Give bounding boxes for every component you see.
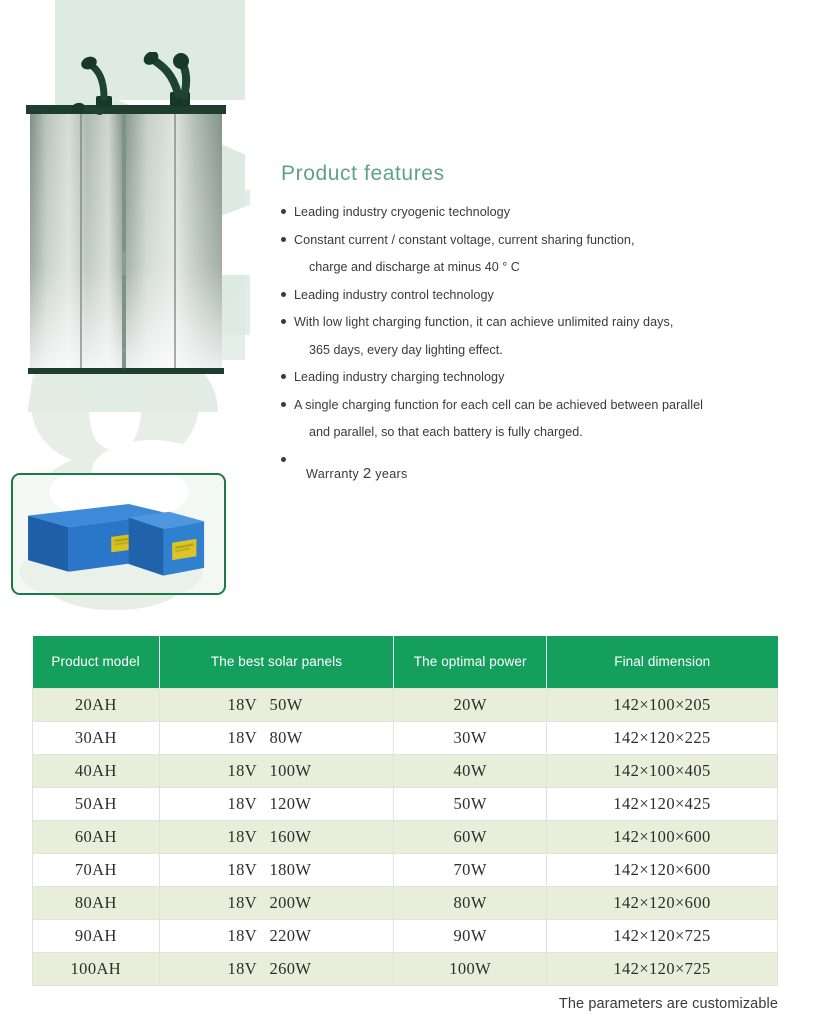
battery-pack-illustration [18,52,248,397]
feature-item: Constant current / constant voltage, cur… [281,227,781,255]
cell-dimension: 142×100×405 [547,754,778,787]
feature-item-warranty: Warranty 2 years [281,457,781,482]
table-row: 60AH 18V160W 60W 142×100×600 [33,820,778,853]
table-row: 30AH 18V80W 30W 142×120×225 [33,721,778,754]
cell-power: 40W [394,754,547,787]
feature-text: A single charging function for each cell… [294,398,703,412]
cell-wattage: 180W [269,860,325,880]
table-header-row: Product model The best solar panels The … [33,636,778,688]
cell-power: 80W [394,886,547,919]
table-header: Product model The best solar panels The … [33,636,778,688]
cell-voltage: 18V [227,926,261,946]
feature-text-continued: charge and discharge at minus 40 ° C [281,254,781,282]
column-header-optimal-power: The optimal power [394,636,547,688]
features-heading: Product features [281,162,781,186]
feature-text: Leading industry cryogenic technology [294,205,510,219]
bullet-icon [281,209,286,214]
table-row: 40AH 18V100W 40W 142×100×405 [33,754,778,787]
cell-voltage: 18V [227,728,261,748]
bullet-icon [281,402,286,407]
cell-model: 100AH [33,952,160,985]
feature-text: Constant current / constant voltage, cur… [294,233,635,247]
cell-dimension: 142×100×600 [547,820,778,853]
feature-text: With low light charging function, it can… [294,315,673,329]
blue-battery-illustration [13,475,224,593]
cell-dimension: 142×120×225 [547,721,778,754]
cell-voltage: 18V [227,761,261,781]
cell-solar-panel: 18V260W [159,952,394,985]
features-list: Leading industry cryogenic technology Co… [281,199,781,482]
feature-text-continued: and parallel, so that each battery is fu… [281,419,781,447]
cell-voltage: 18V [227,959,261,979]
cell-voltage: 18V [227,794,261,814]
feature-item: Leading industry cryogenic technology [281,199,781,227]
cell-model: 50AH [33,787,160,820]
bullet-icon [281,237,286,242]
cell-model: 40AH [33,754,160,787]
cell-model: 60AH [33,820,160,853]
warranty-prefix: Warranty [306,467,359,481]
warranty-value: 2 [363,465,372,482]
table-row: 20AH 18V50W 20W 142×100×205 [33,688,778,721]
product-features-section: Product features Leading industry cryoge… [281,162,781,482]
cell-model: 20AH [33,688,160,721]
feature-item: With low light charging function, it can… [281,309,781,337]
cell-voltage: 18V [227,695,261,715]
cell-wattage: 200W [269,893,325,913]
cell-dimension: 142×120×725 [547,952,778,985]
cell-solar-panel: 18V120W [159,787,394,820]
bullet-icon [281,374,286,379]
cell-dimension: 142×100×205 [547,688,778,721]
table-row: 70AH 18V180W 70W 142×120×600 [33,853,778,886]
bullet-icon [281,319,286,324]
cell-wattage: 50W [269,695,325,715]
cell-power: 60W [394,820,547,853]
cell-power: 20W [394,688,547,721]
warranty-text: Warranty 2 years [294,457,781,482]
table-row: 50AH 18V120W 50W 142×120×425 [33,787,778,820]
cell-power: 70W [394,853,547,886]
cell-voltage: 18V [227,893,261,913]
datasheet-page: 8 8 [0,0,822,1024]
feature-text: Leading industry charging technology [294,370,504,384]
cell-power: 100W [394,952,547,985]
column-header-product-model: Product model [33,636,160,688]
cell-power: 50W [394,787,547,820]
cell-model: 30AH [33,721,160,754]
cell-solar-panel: 18V160W [159,820,394,853]
cell-power: 30W [394,721,547,754]
cell-wattage: 100W [269,761,325,781]
bullet-icon [281,457,286,462]
table-row: 100AH 18V260W 100W 142×120×725 [33,952,778,985]
cell-solar-panel: 18V50W [159,688,394,721]
table-row: 90AH 18V220W 90W 142×120×725 [33,919,778,952]
cell-wattage: 220W [269,926,325,946]
battery-pack-photo [18,52,248,397]
feature-item: Leading industry charging technology [281,364,781,392]
feature-item: A single charging function for each cell… [281,392,781,420]
table-footnote: The parameters are customizable [559,996,778,1012]
cell-dimension: 142×120×600 [547,886,778,919]
cell-dimension: 142×120×425 [547,787,778,820]
column-header-final-dimension: Final dimension [547,636,778,688]
cell-wattage: 260W [269,959,325,979]
column-header-solar-panels: The best solar panels [159,636,394,688]
cell-model: 70AH [33,853,160,886]
feature-text: Leading industry control technology [294,288,494,302]
specification-table: Product model The best solar panels The … [32,636,778,986]
cell-wattage: 160W [269,827,325,847]
feature-text-continued: 365 days, every day lighting effect. [281,337,781,365]
warranty-suffix: years [375,467,407,481]
cell-solar-panel: 18V220W [159,919,394,952]
feature-item: Leading industry control technology [281,282,781,310]
bullet-icon [281,292,286,297]
cell-voltage: 18V [227,827,261,847]
cell-wattage: 80W [269,728,325,748]
table-body: 20AH 18V50W 20W 142×100×205 30AH 18V80W … [33,688,778,985]
cell-wattage: 120W [269,794,325,814]
cell-dimension: 142×120×725 [547,919,778,952]
cell-solar-panel: 18V200W [159,886,394,919]
cell-solar-panel: 18V80W [159,721,394,754]
cell-voltage: 18V [227,860,261,880]
cell-solar-panel: 18V100W [159,754,394,787]
cell-power: 90W [394,919,547,952]
cell-dimension: 142×120×600 [547,853,778,886]
blue-battery-photo [11,473,226,595]
cell-model: 80AH [33,886,160,919]
cell-model: 90AH [33,919,160,952]
cell-solar-panel: 18V180W [159,853,394,886]
table-row: 80AH 18V200W 80W 142×120×600 [33,886,778,919]
